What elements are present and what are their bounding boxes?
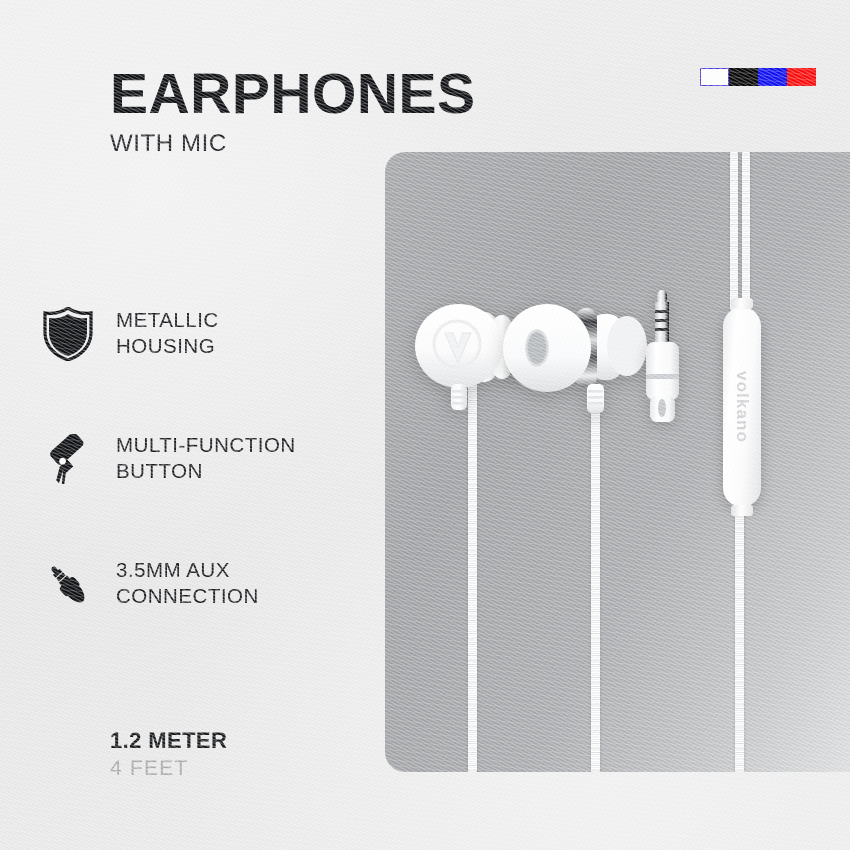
page-title: EARPHONES <box>110 66 476 123</box>
feature-multi-function-button: MULTI-FUNCTION BUTTON <box>40 431 296 487</box>
feature-label: METALLIC HOUSING <box>116 308 219 360</box>
cable-mic-lower <box>735 504 744 772</box>
length-metric: 1.2 METER <box>110 728 227 754</box>
page-subtitle: WITH MIC <box>110 130 476 158</box>
remote-button-icon <box>40 431 96 487</box>
aux-jack-icon <box>40 556 96 612</box>
product-photo-panel: volkano <box>385 152 850 772</box>
headline-block: EARPHONES WITH MIC <box>110 66 476 158</box>
swatch-red[interactable] <box>787 68 816 86</box>
inline-mic-control: volkano <box>723 307 761 507</box>
feature-label: 3.5MM AUX CONNECTION <box>116 558 259 610</box>
cable-length-block: 1.2 METER 4 FEET <box>110 728 227 781</box>
swatch-black[interactable] <box>729 68 758 86</box>
brand-logo-text: volkano <box>732 371 752 443</box>
aux-jack-plug <box>640 288 686 423</box>
swatch-white[interactable] <box>700 68 729 86</box>
cable-mic-upper-b <box>742 152 750 312</box>
earbud-right <box>503 298 663 413</box>
cable-right-earbud <box>591 384 600 772</box>
photo-texture-overlay <box>385 152 850 772</box>
feature-label: MULTI-FUNCTION BUTTON <box>116 433 296 485</box>
product-poster: volkano EARPHONES WITH MIC METALLIC HOUS… <box>0 0 850 850</box>
feature-aux-connection: 3.5MM AUX CONNECTION <box>40 556 259 612</box>
swatch-blue[interactable] <box>758 68 787 86</box>
shield-icon <box>40 306 96 362</box>
colour-swatch-bar <box>700 68 816 86</box>
cable-mic-upper-a <box>730 152 738 312</box>
feature-metallic-housing: METALLIC HOUSING <box>40 306 219 362</box>
cable-left-earbud <box>468 382 477 772</box>
length-imperial: 4 FEET <box>110 757 227 781</box>
